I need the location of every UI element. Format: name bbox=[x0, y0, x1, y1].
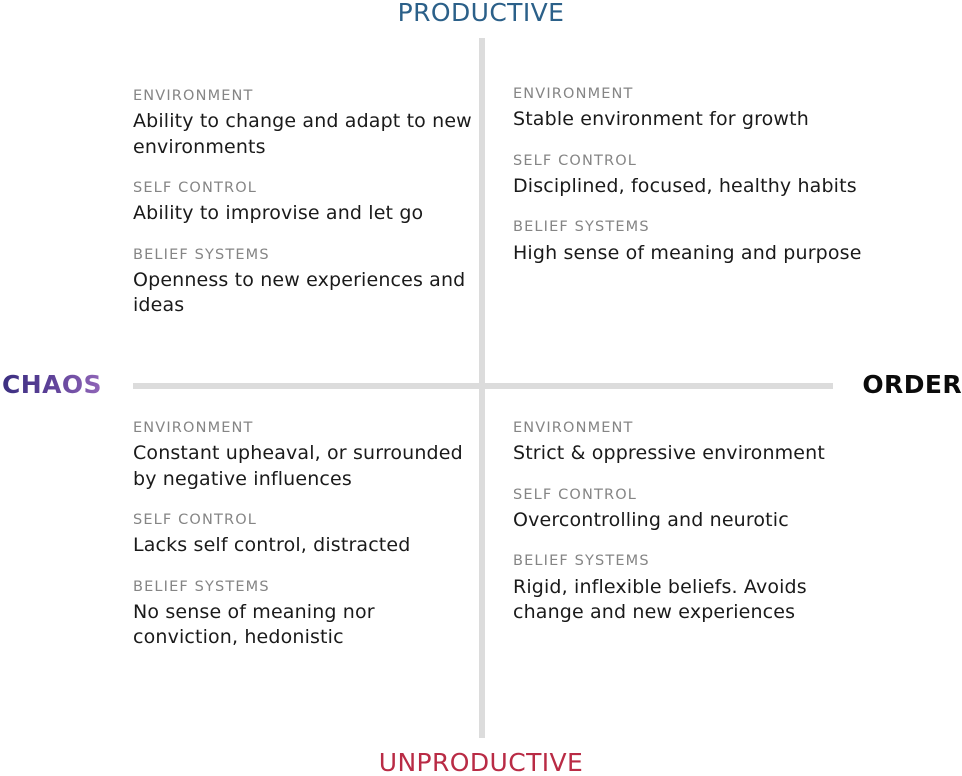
entry-description: Ability to change and adapt to new envir… bbox=[133, 109, 473, 160]
quadrant-entry: ENVIRONMENT Strict & oppressive environm… bbox=[513, 420, 863, 467]
quadrant-entry: SELF CONTROL Overcontrolling and neuroti… bbox=[513, 487, 863, 534]
entry-category-label: SELF CONTROL bbox=[133, 512, 473, 529]
quadrant-entry: SELF CONTROL Ability to improvise and le… bbox=[133, 180, 473, 227]
entry-description: Lacks self control, distracted bbox=[133, 533, 473, 558]
quadrant-entry: ENVIRONMENT Stable environment for growt… bbox=[513, 86, 863, 133]
axis-label-productive: PRODUCTIVE bbox=[0, 0, 962, 25]
entry-description: Strict & oppressive environment bbox=[513, 441, 863, 466]
entry-category-label: BELIEF SYSTEMS bbox=[133, 579, 473, 596]
quadrant-entry: SELF CONTROL Disciplined, focused, healt… bbox=[513, 153, 863, 200]
entry-description: Disciplined, focused, healthy habits bbox=[513, 174, 863, 199]
entry-category-label: ENVIRONMENT bbox=[513, 86, 863, 103]
entry-category-label: SELF CONTROL bbox=[513, 487, 863, 504]
entry-category-label: ENVIRONMENT bbox=[133, 88, 473, 105]
quadrant-chaos-productive: ENVIRONMENT Ability to change and adapt … bbox=[133, 88, 473, 319]
quadrant-entry: ENVIRONMENT Ability to change and adapt … bbox=[133, 88, 473, 160]
quadrant-entry: BELIEF SYSTEMS Rigid, inflexible beliefs… bbox=[513, 553, 863, 625]
entry-category-label: ENVIRONMENT bbox=[133, 420, 473, 437]
quadrant-order-unproductive: ENVIRONMENT Strict & oppressive environm… bbox=[513, 420, 863, 625]
entry-description: Rigid, inflexible beliefs. Avoids change… bbox=[513, 575, 863, 626]
entry-category-label: BELIEF SYSTEMS bbox=[133, 247, 473, 264]
entry-description: Openness to new experiences and ideas bbox=[133, 268, 473, 319]
entry-category-label: BELIEF SYSTEMS bbox=[513, 553, 863, 570]
entry-description: Ability to improvise and let go bbox=[133, 201, 473, 226]
quadrant-entry: SELF CONTROL Lacks self control, distrac… bbox=[133, 512, 473, 559]
entry-category-label: ENVIRONMENT bbox=[513, 420, 863, 437]
quadrant-entry: ENVIRONMENT Constant upheaval, or surrou… bbox=[133, 420, 473, 492]
entry-description: No sense of meaning nor conviction, hedo… bbox=[133, 600, 473, 651]
entry-description: Overcontrolling and neurotic bbox=[513, 508, 863, 533]
entry-category-label: SELF CONTROL bbox=[133, 180, 473, 197]
entry-description: Constant upheaval, or surrounded by nega… bbox=[133, 441, 473, 492]
quadrant-entry: BELIEF SYSTEMS No sense of meaning nor c… bbox=[133, 579, 473, 651]
axis-label-chaos: CHAOS bbox=[2, 372, 102, 397]
entry-category-label: BELIEF SYSTEMS bbox=[513, 219, 863, 236]
horizontal-axis-line bbox=[133, 383, 833, 389]
quadrant-entry: BELIEF SYSTEMS High sense of meaning and… bbox=[513, 219, 863, 266]
entry-category-label: SELF CONTROL bbox=[513, 153, 863, 170]
quadrant-entry: BELIEF SYSTEMS Openness to new experienc… bbox=[133, 247, 473, 319]
entry-description: High sense of meaning and purpose bbox=[513, 241, 863, 266]
quadrant-chaos-unproductive: ENVIRONMENT Constant upheaval, or surrou… bbox=[133, 420, 473, 651]
axis-label-order: ORDER bbox=[862, 372, 962, 397]
quadrant-matrix: PRODUCTIVE UNPRODUCTIVE CHAOS ORDER ENVI… bbox=[0, 0, 962, 776]
entry-description: Stable environment for growth bbox=[513, 107, 863, 132]
quadrant-order-productive: ENVIRONMENT Stable environment for growt… bbox=[513, 86, 863, 266]
axis-label-unproductive: UNPRODUCTIVE bbox=[0, 750, 962, 775]
